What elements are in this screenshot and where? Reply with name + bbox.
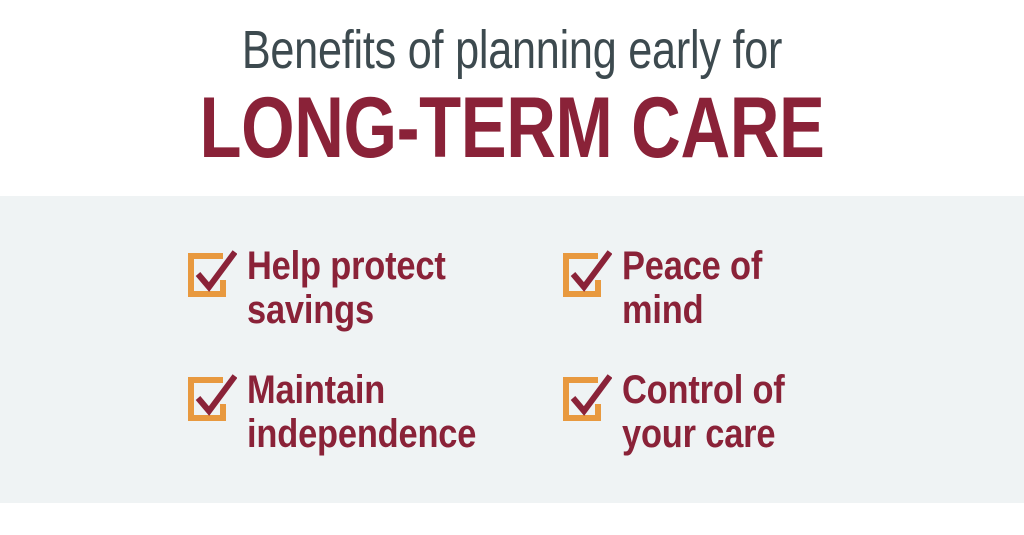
- list-item-label: Maintain independence: [247, 368, 516, 456]
- infographic-canvas: Benefits of planning early for LONG-TERM…: [0, 0, 1024, 535]
- list-item: Control of your care: [560, 368, 885, 492]
- checked-checkbox-icon: [560, 250, 612, 302]
- list-item: Maintain independence: [185, 368, 560, 492]
- list-item: Peace of mind: [560, 244, 885, 368]
- checked-checkbox-icon: [185, 374, 237, 426]
- page-title: LONG-TERM CARE: [102, 82, 921, 174]
- list-item-label: Help protect savings: [247, 244, 516, 332]
- list-item-label: Control of your care: [622, 368, 848, 456]
- benefits-list: Help protect savings Peace of mind Maint…: [185, 244, 885, 492]
- list-item: Help protect savings: [185, 244, 560, 368]
- list-item-label: Peace of mind: [622, 244, 848, 332]
- footer-strip: [0, 503, 1024, 535]
- checked-checkbox-icon: [185, 250, 237, 302]
- header-section: Benefits of planning early for LONG-TERM…: [0, 0, 1024, 196]
- headline-block: Benefits of planning early for LONG-TERM…: [0, 20, 1024, 174]
- checked-checkbox-icon: [560, 374, 612, 426]
- page-subtitle: Benefits of planning early for: [102, 20, 921, 80]
